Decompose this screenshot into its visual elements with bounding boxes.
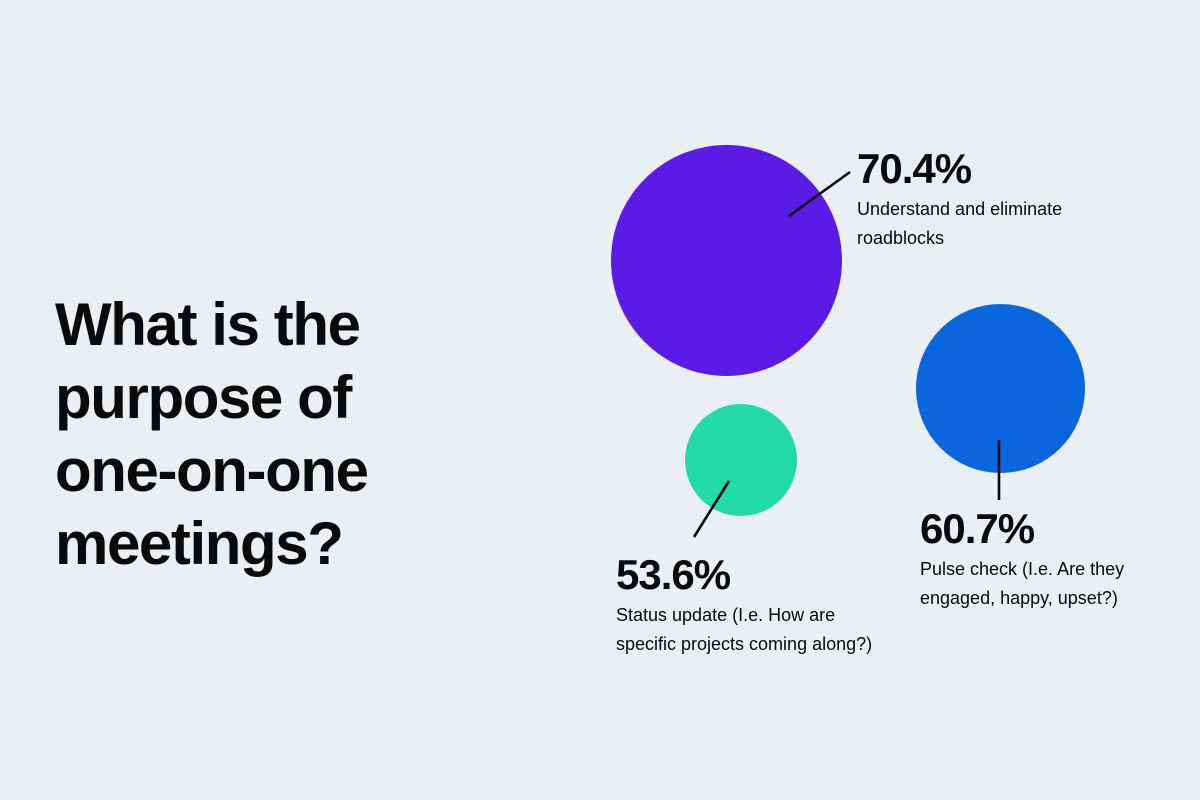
callout-roadblocks: 70.4% Understand and eliminate roadblock… <box>857 146 1117 253</box>
callout-value-pulse-check: 60.7% <box>920 506 1160 552</box>
callout-desc-roadblocks-line-2: roadblocks <box>857 228 944 248</box>
callout-desc-pulse-check: Pulse check (I.e. Are they engaged, happ… <box>920 555 1160 613</box>
infographic-canvas: What is the purpose of one-on-one meetin… <box>0 0 1200 800</box>
callout-desc-status-update: Status update (I.e. How are specific pro… <box>616 601 916 659</box>
callout-value-roadblocks: 70.4% <box>857 146 1117 192</box>
callout-desc-pulse-line-1: Pulse check (I.e. Are they <box>920 559 1124 579</box>
callout-pulse-check: 60.7% Pulse check (I.e. Are they engaged… <box>920 506 1160 613</box>
bubble-chart <box>0 0 1200 800</box>
bubble-pulse-check <box>916 304 1085 473</box>
callout-desc-status-line-2: specific projects coming along?) <box>616 634 872 654</box>
callout-desc-pulse-line-2: engaged, happy, upset?) <box>920 588 1118 608</box>
bubble-roadblocks <box>611 145 842 376</box>
callout-value-status-update: 53.6% <box>616 552 916 598</box>
callout-desc-status-line-1: Status update (I.e. How are <box>616 605 835 625</box>
bubble-status-update <box>685 404 797 516</box>
callout-desc-roadblocks: Understand and eliminate roadblocks <box>857 195 1117 253</box>
callout-status-update: 53.6% Status update (I.e. How are specif… <box>616 552 916 659</box>
callout-desc-roadblocks-line-1: Understand and eliminate <box>857 199 1062 219</box>
